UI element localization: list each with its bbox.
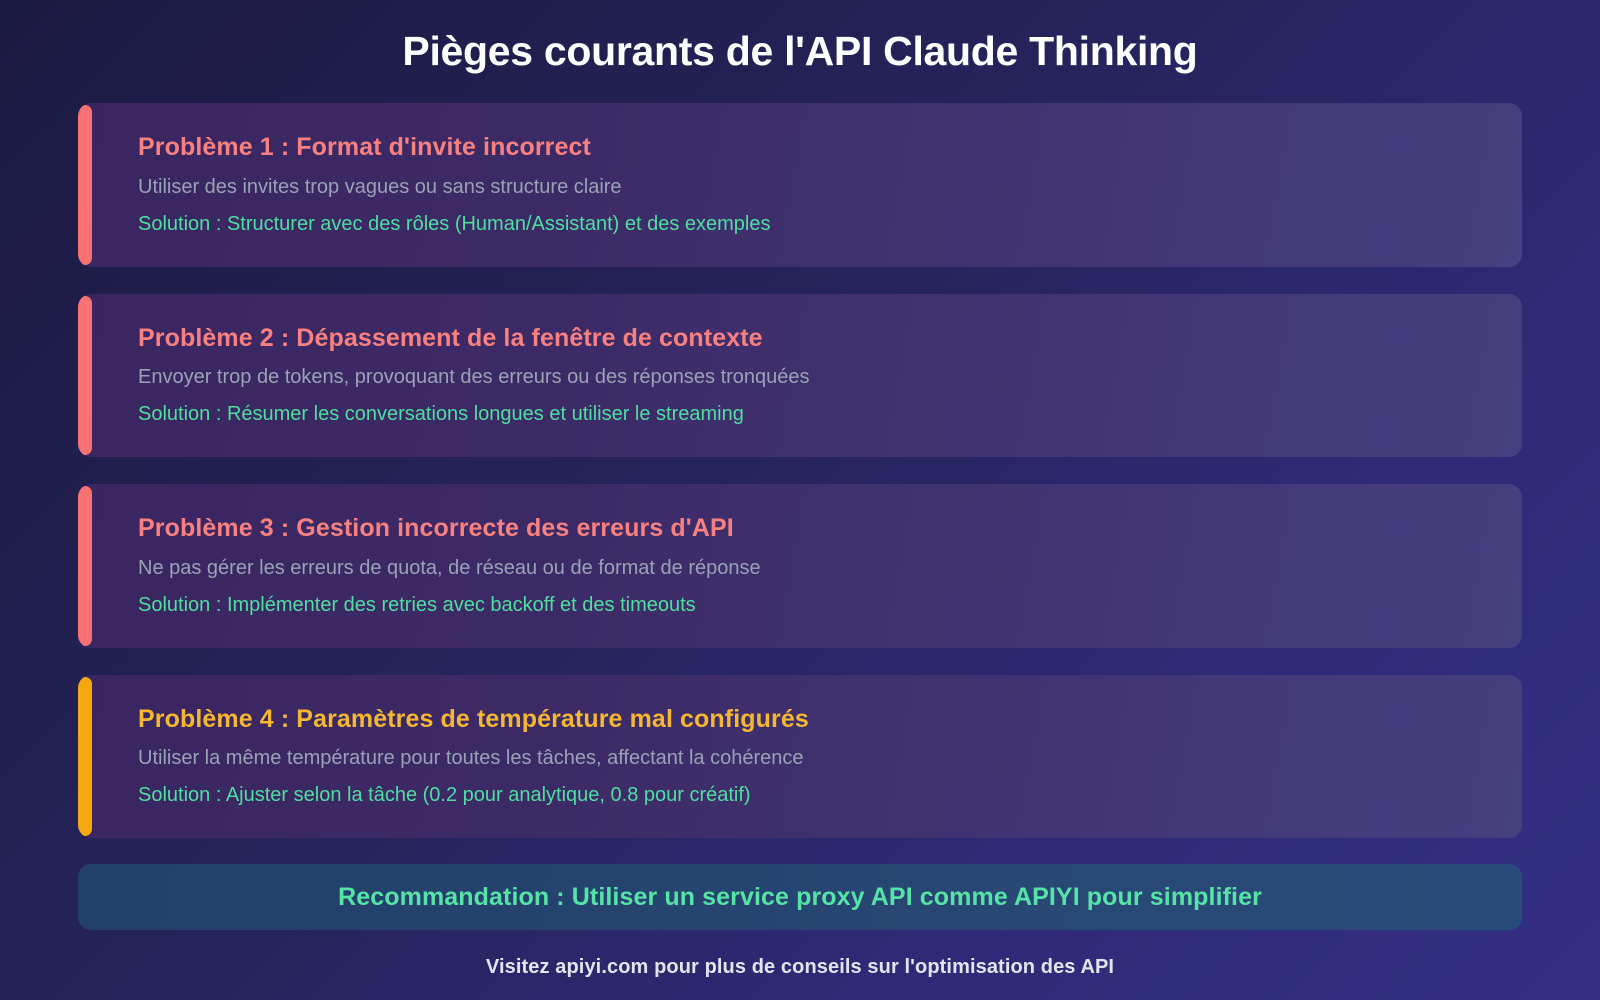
accent-bar [78,105,92,265]
problem-card-list: Problème 1 : Format d'invite incorrect U… [0,103,1600,838]
recommendation-banner: Recommandation : Utiliser un service pro… [78,864,1522,930]
problem-title: Problème 4 : Paramètres de température m… [138,701,1492,739]
problem-description: Ne pas gérer les erreurs de quota, de ré… [138,552,1492,585]
accent-bar [78,296,92,456]
problem-description: Envoyer trop de tokens, provoquant des e… [138,361,1492,394]
accent-bar [78,486,92,646]
problem-solution: Solution : Ajuster selon la tâche (0.2 p… [138,779,1492,812]
problem-card: Problème 2 : Dépassement de la fenêtre d… [78,294,1522,458]
problem-description: Utiliser des invites trop vagues ou sans… [138,171,1492,204]
recommendation-text: Recommandation : Utiliser un service pro… [338,883,1262,912]
problem-title: Problème 3 : Gestion incorrecte des erre… [138,510,1492,548]
infographic-page: Pièges courants de l'API Claude Thinking… [0,0,1600,1000]
problem-card: Problème 3 : Gestion incorrecte des erre… [78,484,1522,648]
accent-bar [78,677,92,837]
footer-note: Visitez apiyi.com pour plus de conseils … [0,956,1600,979]
problem-description: Utiliser la même température pour toutes… [138,742,1492,775]
problem-solution: Solution : Implémenter des retries avec … [138,589,1492,622]
problem-card: Problème 1 : Format d'invite incorrect U… [78,103,1522,267]
problem-title: Problème 1 : Format d'invite incorrect [138,129,1492,167]
problem-card: Problème 4 : Paramètres de température m… [78,675,1522,839]
problem-solution: Solution : Résumer les conversations lon… [138,398,1492,431]
problem-title: Problème 2 : Dépassement de la fenêtre d… [138,320,1492,358]
page-title: Pièges courants de l'API Claude Thinking [0,0,1600,77]
problem-solution: Solution : Structurer avec des rôles (Hu… [138,208,1492,241]
